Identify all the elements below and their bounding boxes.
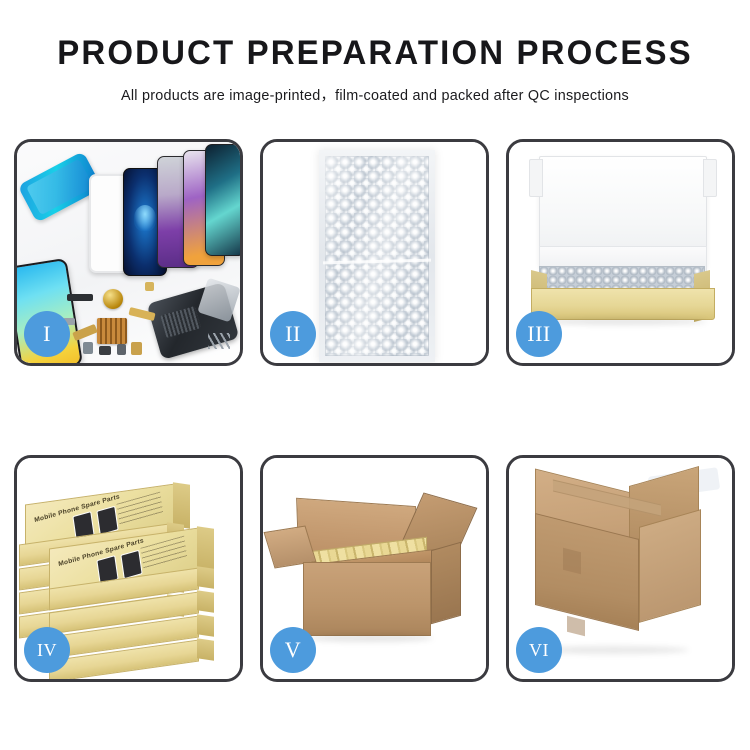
inner-box-shadow bbox=[539, 318, 707, 325]
carton-right-side bbox=[431, 542, 461, 625]
process-step-card-4[interactable]: Mobile Phone Spare Parts Mobile Phone Sp… bbox=[14, 455, 243, 682]
box-spec-lines-1 bbox=[117, 492, 164, 528]
step-badge-3: III bbox=[516, 311, 562, 357]
stacked-box-side bbox=[197, 566, 214, 588]
connector-chip-icon bbox=[97, 318, 127, 344]
process-step-grid: I II III bbox=[14, 139, 736, 682]
small-part-icon-3 bbox=[117, 344, 126, 355]
process-step-card-2[interactable]: II bbox=[260, 139, 489, 366]
step-badge-2: II bbox=[270, 311, 316, 357]
process-step-card-6[interactable]: VI bbox=[506, 455, 735, 682]
page-subtitle: All products are image-printed，film-coat… bbox=[0, 84, 750, 105]
stacked-box-side bbox=[197, 590, 214, 612]
bubble-wrap-gloss bbox=[325, 156, 429, 356]
inner-box-front-wall bbox=[531, 288, 715, 320]
carton-shadow bbox=[307, 634, 433, 642]
small-part-icon-2 bbox=[99, 346, 111, 355]
stacked-box-side bbox=[173, 482, 190, 528]
page-title: PRODUCT PREPARATION PROCESS bbox=[11, 34, 739, 73]
battery-part-icon bbox=[131, 342, 142, 355]
product-preparation-process-page: PRODUCT PREPARATION PROCESS All products… bbox=[0, 0, 750, 750]
sealed-carton-right-face bbox=[639, 509, 701, 623]
step-badge-1: I bbox=[24, 311, 70, 357]
speaker-coil-icon bbox=[103, 289, 123, 309]
teal-display-phone-icon bbox=[205, 144, 240, 256]
carton-flap-seam-2 bbox=[567, 616, 585, 636]
screws-icon bbox=[208, 333, 230, 349]
process-step-card-3[interactable]: III bbox=[506, 139, 735, 366]
box-spec-lines-2 bbox=[141, 536, 188, 572]
earpiece-mesh-icon bbox=[67, 294, 93, 301]
step-badge-4: IV bbox=[24, 627, 70, 673]
process-step-card-1[interactable]: I bbox=[14, 139, 243, 366]
carton-flap-seam-1 bbox=[563, 548, 581, 574]
stacked-box-side bbox=[197, 614, 214, 636]
step-badge-6: VI bbox=[516, 627, 562, 673]
small-part-icon-1 bbox=[83, 342, 93, 354]
stacked-box-side bbox=[197, 638, 214, 660]
carton-front-face bbox=[303, 562, 431, 636]
page-header: PRODUCT PREPARATION PROCESS All products… bbox=[0, 0, 750, 105]
process-step-card-5[interactable]: V bbox=[260, 455, 489, 682]
small-part-icon-4 bbox=[145, 282, 154, 291]
step-badge-5: V bbox=[270, 627, 316, 673]
